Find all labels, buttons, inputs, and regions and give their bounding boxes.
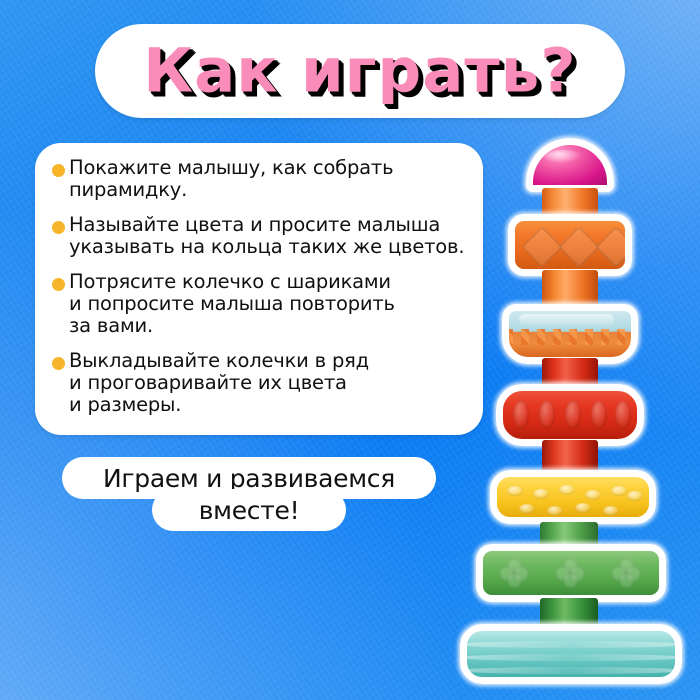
pink-dome-top-piece xyxy=(526,138,614,192)
tip-text: Выкладывайте колечки в ряд и проговарива… xyxy=(69,350,369,416)
stacking-ring-pyramid-image xyxy=(452,130,700,690)
teal-wavy-base-ring xyxy=(460,624,682,684)
green-ring-clover xyxy=(476,544,666,602)
tip-text: Потрясите колечко с шариками и попросите… xyxy=(69,271,395,337)
tips-list: Покажите малышу, как собрать пирамидку. … xyxy=(52,157,473,429)
list-item: Называйте цвета и просите малыша указыва… xyxy=(52,214,473,258)
footer-text-line2: вместе! xyxy=(199,498,300,523)
yellow-ring-dimples xyxy=(490,470,656,524)
tip-text: Покажите малышу, как собрать пирамидку. xyxy=(69,157,393,201)
page-title: Как играть? xyxy=(95,41,625,102)
footer-text-line1: Играем и развиваемся xyxy=(103,466,395,491)
list-item: Выкладывайте колечки в ряд и проговарива… xyxy=(52,350,473,416)
title-card: Как играть? xyxy=(95,24,625,118)
bullet-icon xyxy=(52,357,65,370)
bullet-icon xyxy=(52,221,65,234)
footer-pill-line2: вместе! xyxy=(152,489,346,531)
promo-card-root: Как играть? Покажите малышу, как собрать… xyxy=(0,0,700,700)
list-item: Потрясите колечко с шариками и попросите… xyxy=(52,271,473,337)
bullet-icon xyxy=(52,164,65,177)
list-item: Покажите малышу, как собрать пирамидку. xyxy=(52,157,473,201)
transparent-rattle-ring xyxy=(502,304,638,364)
tip-text: Называйте цвета и просите малыша указыва… xyxy=(69,214,464,258)
red-ring-oval-bumps xyxy=(496,384,644,446)
orange-ring-x-pattern xyxy=(508,214,632,276)
bullet-icon xyxy=(52,278,65,291)
tips-card: Покажите малышу, как собрать пирамидку. … xyxy=(35,143,483,435)
